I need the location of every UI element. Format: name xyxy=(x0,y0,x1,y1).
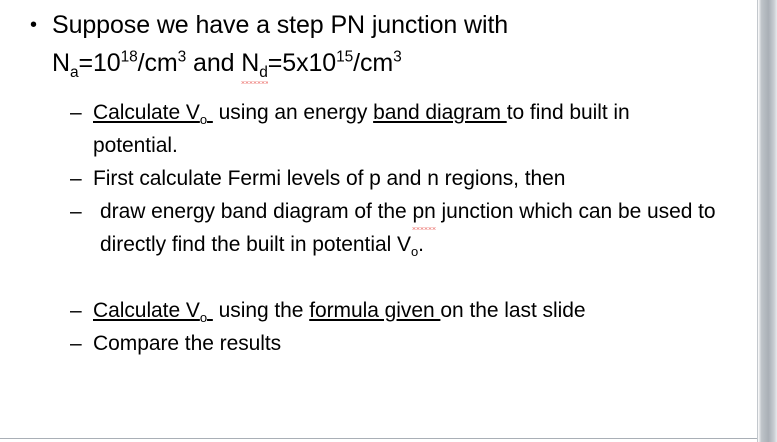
slide-content-body: • Suppose we have a step PN junction wit… xyxy=(0,0,757,442)
right-window-edge xyxy=(757,0,777,442)
symbol-Nd-letter: N xyxy=(241,49,259,77)
using-an-energy-text: using an energy xyxy=(213,101,373,124)
en-dash-bullet: – xyxy=(70,327,82,360)
Na-units: /cm xyxy=(138,49,178,77)
bullet-level2-first-calculate-fermi: –First calculate Fermi levels of p and n… xyxy=(70,162,713,195)
underlined-formula-given: formula given xyxy=(309,299,440,322)
bullet-level2-group: –Calculate Vo using an energy band diagr… xyxy=(0,96,757,360)
bullet-dot: • xyxy=(30,6,37,44)
underlined-calculate-vo: Calculate Vo xyxy=(93,101,213,124)
bullet-level1-line2: Na=1018/cm3 and Nd=5x1015/cm3 xyxy=(52,49,402,77)
underlined-calculate-vo: Calculate Vo xyxy=(93,299,213,322)
en-dash-bullet: – xyxy=(70,195,82,228)
Na-value-prefix: =10 xyxy=(79,49,121,77)
first-calculate-fermi-text: First calculate Fermi levels of p and n … xyxy=(93,167,565,190)
pn-spellchecked-word: pn xyxy=(412,195,435,228)
conjunction-and: and xyxy=(186,49,241,77)
on-the-last-slide-text: on the last slide xyxy=(440,299,585,322)
bullet-level1-line1: Suppose we have a step PN junction with xyxy=(52,11,508,39)
vo-subscript: o xyxy=(200,310,207,325)
en-dash-bullet: – xyxy=(70,162,82,195)
symbol-Na-subscript: a xyxy=(70,64,79,81)
Nd-units-exponent: 3 xyxy=(393,49,402,66)
underlined-band-diagram: band diagram xyxy=(373,101,507,124)
bullet-level2-draw-energy-band-diagram: – draw energy band diagram of the pn jun… xyxy=(70,195,720,261)
bullet-level2-compare-results: –Compare the results xyxy=(70,327,713,360)
compare-the-results-text: Compare the results xyxy=(93,332,281,355)
Nd-exponent: 15 xyxy=(336,49,353,66)
calculate-vo-text: Calculate V xyxy=(93,299,200,322)
symbol-Na-letter: N xyxy=(52,49,70,77)
bullet-level1: • Suppose we have a step PN junction wit… xyxy=(0,0,757,82)
using-the-text: using the xyxy=(213,299,309,322)
bottom-divider xyxy=(0,438,757,439)
en-dash-bullet: – xyxy=(70,294,82,327)
draw-energy-band-diagram-text: draw energy band diagram of the xyxy=(100,200,412,223)
bullet-level2-calculate-vo-formula: –Calculate Vo using the formula given on… xyxy=(70,294,713,327)
Na-exponent: 18 xyxy=(121,49,138,66)
Na-units-exponent: 3 xyxy=(178,49,187,66)
symbol-Nd-subscript: d xyxy=(259,64,268,81)
vo-subscript: o xyxy=(200,112,207,127)
slide-frame: • Suppose we have a step PN junction wit… xyxy=(0,0,777,442)
bullet-level2-calculate-vo-band-diagram: –Calculate Vo using an energy band diagr… xyxy=(70,96,713,162)
symbol-Nd-letter-spellchecked: Nd xyxy=(241,44,268,82)
Nd-units: /cm xyxy=(353,49,393,77)
calculate-vo-text: Calculate V xyxy=(93,101,200,124)
Nd-value-prefix: =5x10 xyxy=(268,49,336,77)
period-text: . xyxy=(418,233,424,256)
en-dash-bullet: – xyxy=(70,96,82,129)
